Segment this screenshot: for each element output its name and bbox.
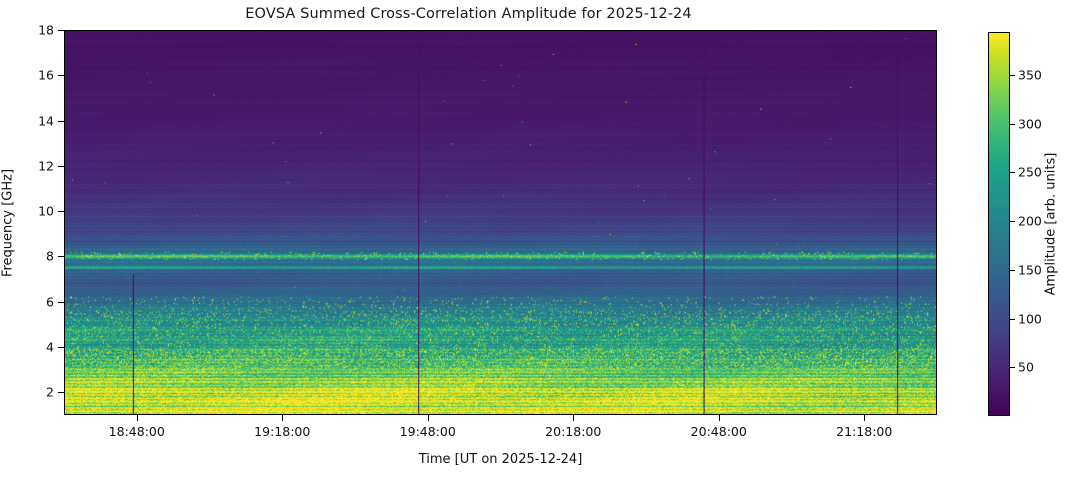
colorbar-tick-label: 200: [1018, 214, 1042, 229]
x-axis-tick-label: 20:18:00: [545, 424, 601, 439]
x-axis-tick-label: 21:18:00: [836, 424, 892, 439]
colorbar-tick-label: 300: [1018, 116, 1042, 131]
x-axis-label: Time [UT on 2025-12-24]: [64, 452, 937, 467]
colorbar-tick: [1010, 319, 1015, 320]
x-axis-tick-label: 20:48:00: [691, 424, 747, 439]
y-axis-tick: [58, 392, 64, 393]
colorbar-tick: [1010, 221, 1015, 222]
x-axis-tick: [428, 415, 429, 421]
dynamic-spectrum-axes[interactable]: [64, 30, 937, 415]
colorbar-tick: [1010, 124, 1015, 125]
y-axis-tick: [58, 211, 64, 212]
y-axis-tick: [58, 121, 64, 122]
colorbar-tick-label: 50: [1018, 360, 1034, 375]
colorbar-tick: [1010, 367, 1015, 368]
colorbar-tick-label: 250: [1018, 165, 1042, 180]
x-axis-tick: [864, 415, 865, 421]
y-axis-tick-label: 4: [18, 340, 54, 355]
y-axis-tick-label: 16: [18, 68, 54, 83]
x-axis-tick: [137, 415, 138, 421]
colorbar-tick-label: 100: [1018, 311, 1042, 326]
x-axis-tick-label: 19:18:00: [254, 424, 310, 439]
chart-title: EOVSA Summed Cross-Correlation Amplitude…: [0, 6, 937, 22]
y-axis-label: Frequency [GHz]: [0, 30, 18, 415]
colorbar-tick: [1010, 270, 1015, 271]
colorbar-gradient: [989, 33, 1009, 415]
colorbar-label: Amplitude [arb. units]: [1040, 32, 1062, 416]
y-axis-tick: [58, 166, 64, 167]
y-axis-label-text: Frequency [GHz]: [1, 168, 16, 276]
y-axis-tick-label: 12: [18, 158, 54, 173]
colorbar-tick-label: 350: [1018, 67, 1042, 82]
y-axis-tick-label: 14: [18, 113, 54, 128]
x-axis-tick-label: 18:48:00: [109, 424, 165, 439]
y-axis-tick: [58, 347, 64, 348]
x-axis-tick: [573, 415, 574, 421]
y-axis-tick-label: 8: [18, 249, 54, 264]
colorbar-tick: [1010, 172, 1015, 173]
x-axis-tick-label: 19:48:00: [400, 424, 456, 439]
y-axis-tick: [58, 30, 64, 31]
y-axis-tick: [58, 75, 64, 76]
colorbar-tick: [1010, 75, 1015, 76]
y-axis-tick: [58, 302, 64, 303]
colorbar[interactable]: [988, 32, 1010, 416]
y-axis-tick: [58, 256, 64, 257]
y-axis-tick-label: 2: [18, 385, 54, 400]
x-axis-tick: [719, 415, 720, 421]
y-axis-tick-label: 10: [18, 204, 54, 219]
dynamic-spectrum-image: [65, 31, 936, 414]
colorbar-tick-label: 150: [1018, 262, 1042, 277]
x-axis-tick: [282, 415, 283, 421]
y-axis-tick-label: 18: [18, 23, 54, 38]
y-axis-tick-label: 6: [18, 294, 54, 309]
colorbar-label-text: Amplitude [arb. units]: [1044, 153, 1059, 296]
figure-canvas: EOVSA Summed Cross-Correlation Amplitude…: [0, 0, 1073, 479]
